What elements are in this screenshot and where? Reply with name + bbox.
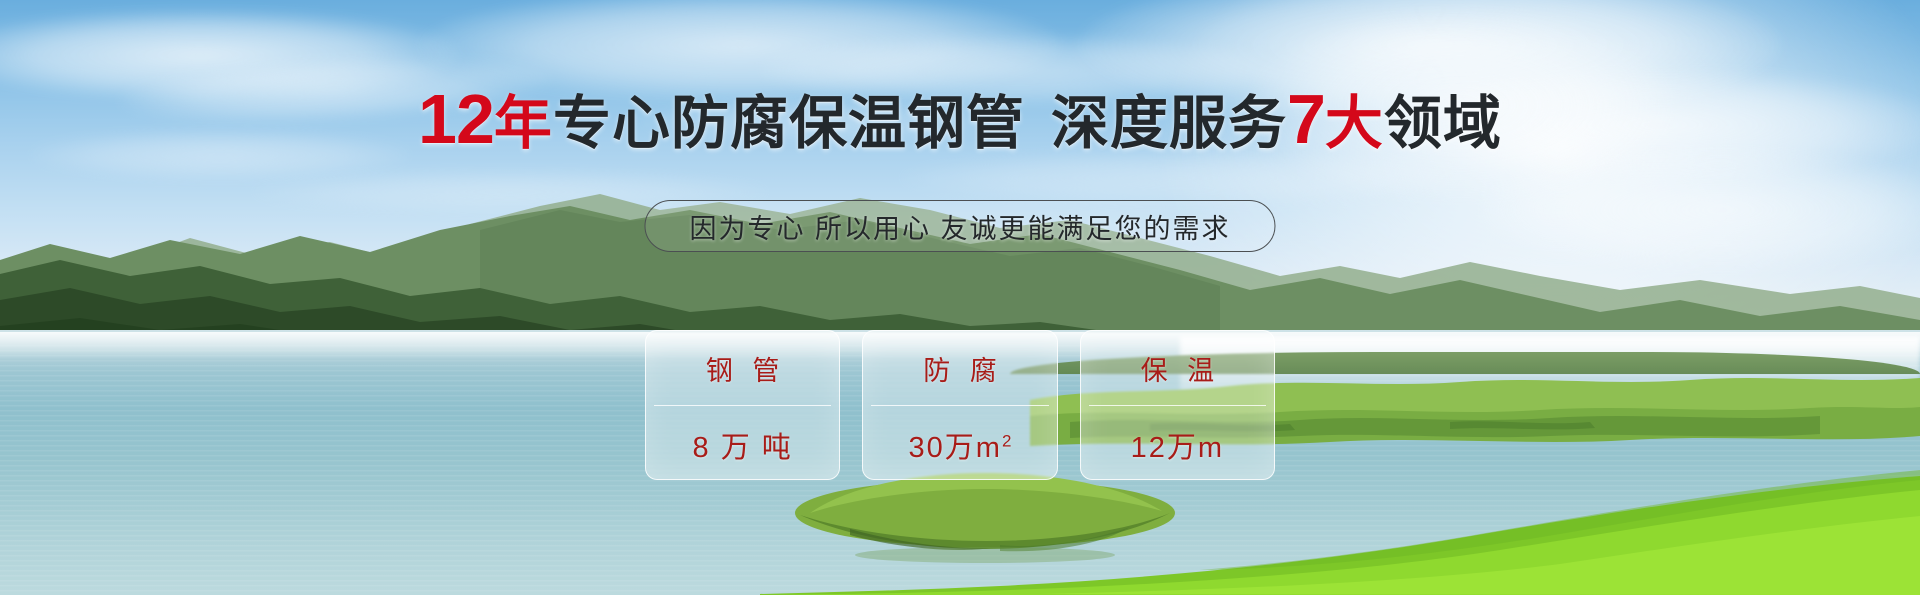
stat-value: 8 万 吨 <box>693 424 793 466</box>
headline-unit-2: 大 <box>1325 91 1384 156</box>
subtitle-text: 因为专心 所以用心 友诚更能满足您的需求 <box>689 207 1230 246</box>
stat-card-steel-pipe[interactable]: 钢 管 8 万 吨 <box>645 330 840 480</box>
subtitle-pill: 因为专心 所以用心 友诚更能满足您的需求 <box>644 200 1275 252</box>
stat-value-text: 30万m <box>909 432 1002 464</box>
headline-number-2: 7 <box>1287 80 1325 158</box>
stat-label: 保 温 <box>1135 349 1221 388</box>
stat-card-group: 钢 管 8 万 吨 防 腐 30万m2 保 温 12万m <box>645 330 1275 480</box>
stat-card-anticorrosion[interactable]: 防 腐 30万m2 <box>862 330 1057 480</box>
stat-label: 防 腐 <box>917 349 1003 388</box>
stat-divider <box>871 405 1048 406</box>
headline: 12年专心防腐保温钢管深度服务7大领域 <box>0 84 1920 154</box>
foreground-grass <box>760 470 1920 595</box>
headline-number-1: 12 <box>418 80 494 158</box>
stat-card-insulation[interactable]: 保 温 12万m <box>1080 330 1275 480</box>
hero-banner: 12年专心防腐保温钢管深度服务7大领域 因为专心 所以用心 友诚更能满足您的需求… <box>0 0 1920 595</box>
stat-label: 钢 管 <box>700 349 786 388</box>
headline-text-3: 领域 <box>1384 91 1502 156</box>
stat-value-text: 8 万 吨 <box>693 432 793 464</box>
headline-text-2: 深度服务 <box>1051 91 1287 156</box>
stat-value: 30万m2 <box>909 424 1012 466</box>
headline-unit-1: 年 <box>494 91 553 156</box>
stat-value-text: 12万m <box>1131 432 1224 464</box>
stat-divider <box>654 405 831 406</box>
stat-value: 12万m <box>1131 424 1224 466</box>
stat-divider <box>1089 405 1266 406</box>
headline-text-1: 专心防腐保温钢管 <box>553 91 1025 156</box>
stat-value-superscript: 2 <box>1002 431 1011 450</box>
